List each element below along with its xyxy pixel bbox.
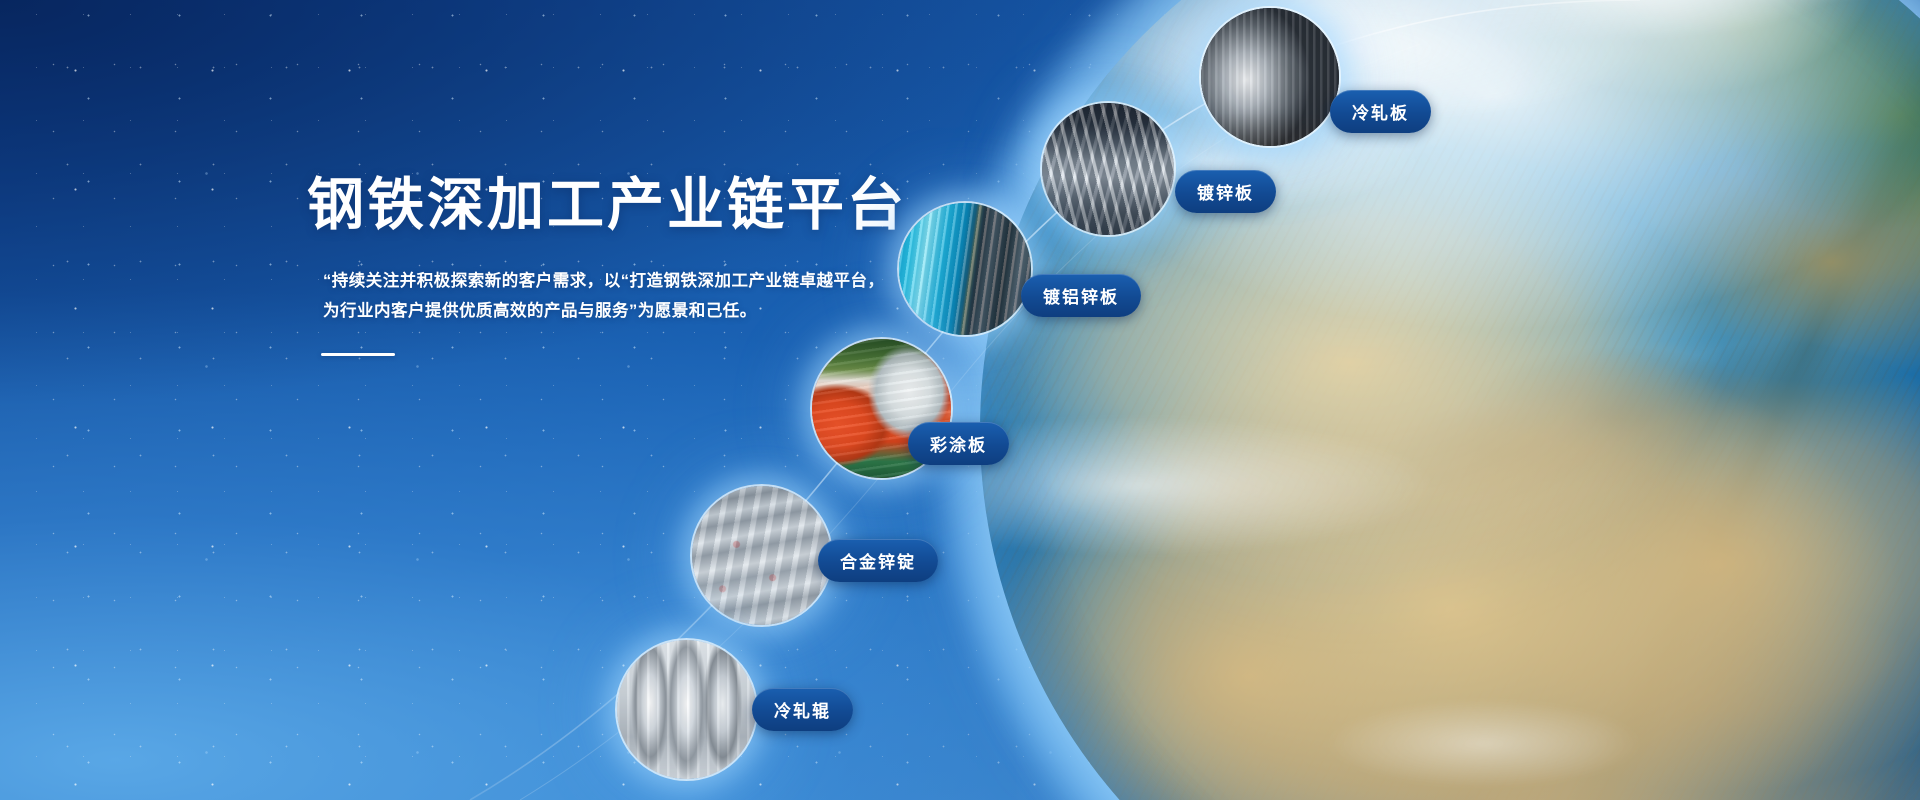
product-label-text: 冷轧辊 xyxy=(774,697,831,722)
product-label-cold-rolled-sheet[interactable]: 冷轧板 xyxy=(1330,90,1431,133)
product-label-alloy-zinc-ingot[interactable]: 合金锌锭 xyxy=(818,539,938,582)
product-label-color-coated-sheet[interactable]: 彩涂板 xyxy=(908,422,1009,465)
page-title: 钢铁深加工产业链平台 xyxy=(307,176,907,236)
title-divider xyxy=(321,353,395,356)
hero-subtitle-line-1: “持续关注并积极探索新的客户需求，以“打造钢铁深加工产业链卓越平台， xyxy=(323,266,907,297)
hero-subtitle: “持续关注并积极探索新的客户需求，以“打造钢铁深加工产业链卓越平台， 为行业内客… xyxy=(323,266,907,327)
product-photo-aluzinc-sheet[interactable] xyxy=(897,201,1033,337)
hero-copy: 钢铁深加工产业链平台 “持续关注并积极探索新的客户需求，以“打造钢铁深加工产业链… xyxy=(307,176,907,356)
aluzinc-sheet-image xyxy=(899,203,1031,335)
product-label-text: 镀锌板 xyxy=(1197,179,1254,204)
cold-rolling-rolls-image xyxy=(617,640,756,779)
product-label-cold-rolling-roll[interactable]: 冷轧辊 xyxy=(752,688,853,731)
product-label-galvanized-sheet[interactable]: 镀锌板 xyxy=(1175,170,1276,213)
hero-banner: 钢铁深加工产业链平台 “持续关注并积极探索新的客户需求，以“打造钢铁深加工产业链… xyxy=(0,0,1920,800)
product-photo-cold-rolled-sheet[interactable] xyxy=(1199,6,1341,148)
product-photo-alloy-zinc-ingot[interactable] xyxy=(690,484,833,627)
hero-subtitle-line-2: 为行业内客户提供优质高效的产品与服务”为愿景和己任。 xyxy=(323,296,907,327)
product-label-text: 镀铝锌板 xyxy=(1043,283,1119,308)
product-photo-galvanized-sheet[interactable] xyxy=(1040,101,1176,237)
product-label-aluzinc-sheet[interactable]: 镀铝锌板 xyxy=(1021,274,1141,317)
product-label-text: 合金锌锭 xyxy=(840,548,916,573)
alloy-zinc-ingot-image xyxy=(692,486,831,625)
product-photo-cold-rolling-roll[interactable] xyxy=(615,638,758,781)
galvanized-warehouse-image xyxy=(1042,103,1174,235)
cold-rolled-coils-image xyxy=(1201,8,1339,146)
product-label-text: 冷轧板 xyxy=(1352,99,1409,124)
product-label-text: 彩涂板 xyxy=(930,431,987,456)
